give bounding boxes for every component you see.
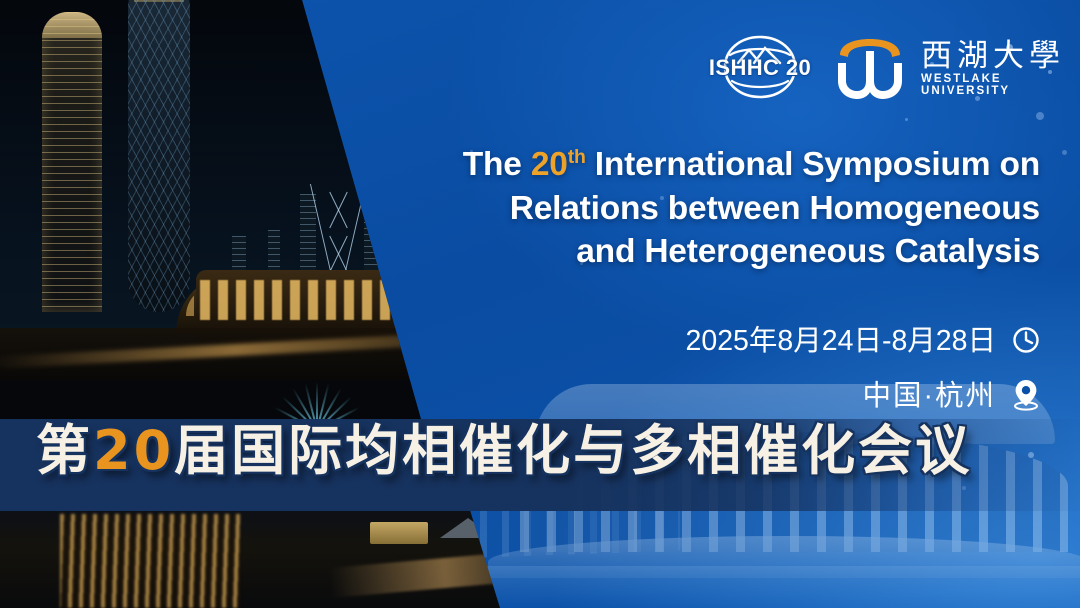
westlake-university-logo[interactable]: 西湖大學 WESTLAKE UNIVERSITY <box>833 37 1080 101</box>
symposium-title-line-3: and Heterogeneous Catalysis <box>368 230 1040 274</box>
title-edition-number: 20 <box>531 146 568 183</box>
diamond-tower <box>318 184 358 280</box>
skyline-tower <box>300 194 316 280</box>
clock-icon <box>1010 322 1042 356</box>
westlake-wordmark: 西湖大學 WESTLAKE UNIVERSITY <box>921 41 1080 97</box>
westlake-u-mark-icon <box>833 37 907 101</box>
event-location-row: 中国·杭州 <box>686 373 1043 414</box>
event-date-row: 2025年8月24日-8月28日 <box>686 318 1043 359</box>
ishhc-logo-text: ISHHC 20 <box>702 55 818 81</box>
logo-row: ISHHC 20 西湖大學 WESTLAKE UNIVERSITY <box>702 33 1080 105</box>
chinese-headline-prefix: 第 <box>36 419 93 482</box>
westlake-name-english: WESTLAKE UNIVERSITY <box>921 74 1080 97</box>
night-street-image <box>0 510 540 608</box>
symposium-title: The 20th International Symposium on Rela… <box>368 143 1040 274</box>
conference-banner: ISHHC 20 西湖大學 WESTLAKE UNIVERSITY The 20… <box>0 0 1080 608</box>
map-pin-icon <box>1010 377 1042 411</box>
skyscraper-main <box>42 12 102 312</box>
billboard <box>370 522 428 544</box>
skyscraper-lattice <box>128 0 190 312</box>
chinese-headline-number: 20 <box>93 419 174 482</box>
title-prefix: The <box>463 146 531 183</box>
ishhc-logo[interactable]: ISHHC 20 <box>702 33 811 105</box>
event-date: 2025年8月24日-8月28日 <box>686 318 997 359</box>
illuminated-facade <box>60 514 240 608</box>
title-edition-suffix: th <box>568 146 586 168</box>
event-meta: 2025年8月24日-8月28日 中国·杭州 <box>686 318 1043 414</box>
event-location: 中国·杭州 <box>863 373 997 414</box>
chinese-headline: 第20届国际均相催化与多相催化会议 <box>36 424 972 478</box>
westlake-name-chinese: 西湖大學 <box>921 41 1080 72</box>
symposium-title-line-2: Relations between Homogeneous <box>368 187 1040 231</box>
chinese-headline-suffix: 届国际均相催化与多相催化会议 <box>174 419 972 482</box>
title-suffix: International Symposium on <box>586 146 1040 183</box>
symposium-title-line-1: The 20th International Symposium on <box>368 143 1040 187</box>
